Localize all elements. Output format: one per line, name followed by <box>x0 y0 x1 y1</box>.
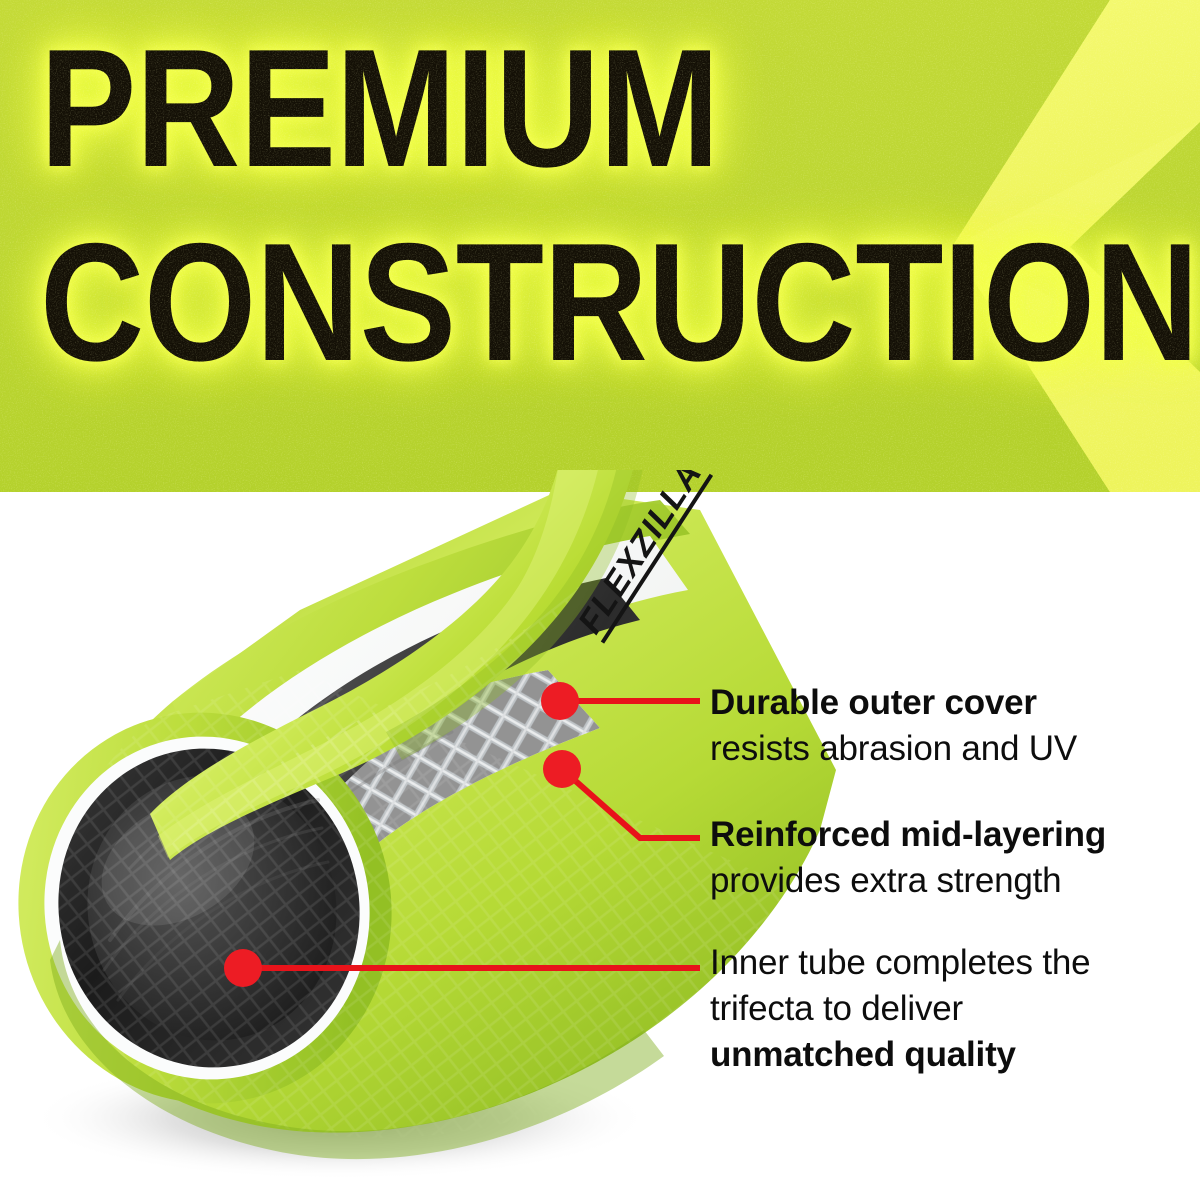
callout-outer-cover-headline: Durable outer cover <box>710 680 1200 726</box>
infographic-canvas: PREMIUM CONSTRUCTION <box>0 0 1200 1200</box>
callout-inner-tube-line-3: unmatched quality <box>710 1032 1200 1078</box>
callout-dot-outer-cover <box>541 682 579 720</box>
callout-dot-inner-tube <box>224 949 262 987</box>
callout-outer-cover-body: resists abrasion and UV <box>710 726 1200 772</box>
callout-inner-tube-line-2: trifecta to deliver <box>710 986 1200 1032</box>
callout-mid-layering-headline: Reinforced mid-layering <box>710 812 1200 858</box>
callout-outer-cover: Durable outer cover resists abrasion and… <box>710 680 1200 772</box>
callout-dot-mid-layering <box>543 750 581 788</box>
callout-inner-tube-line-1: Inner tube completes the <box>710 940 1200 986</box>
callout-mid-layering-body: provides extra strength <box>710 858 1200 904</box>
callout-inner-tube: Inner tube completes the trifecta to del… <box>710 940 1200 1078</box>
leader-line-mid-layering <box>562 769 700 838</box>
callout-mid-layering: Reinforced mid-layering provides extra s… <box>710 812 1200 904</box>
